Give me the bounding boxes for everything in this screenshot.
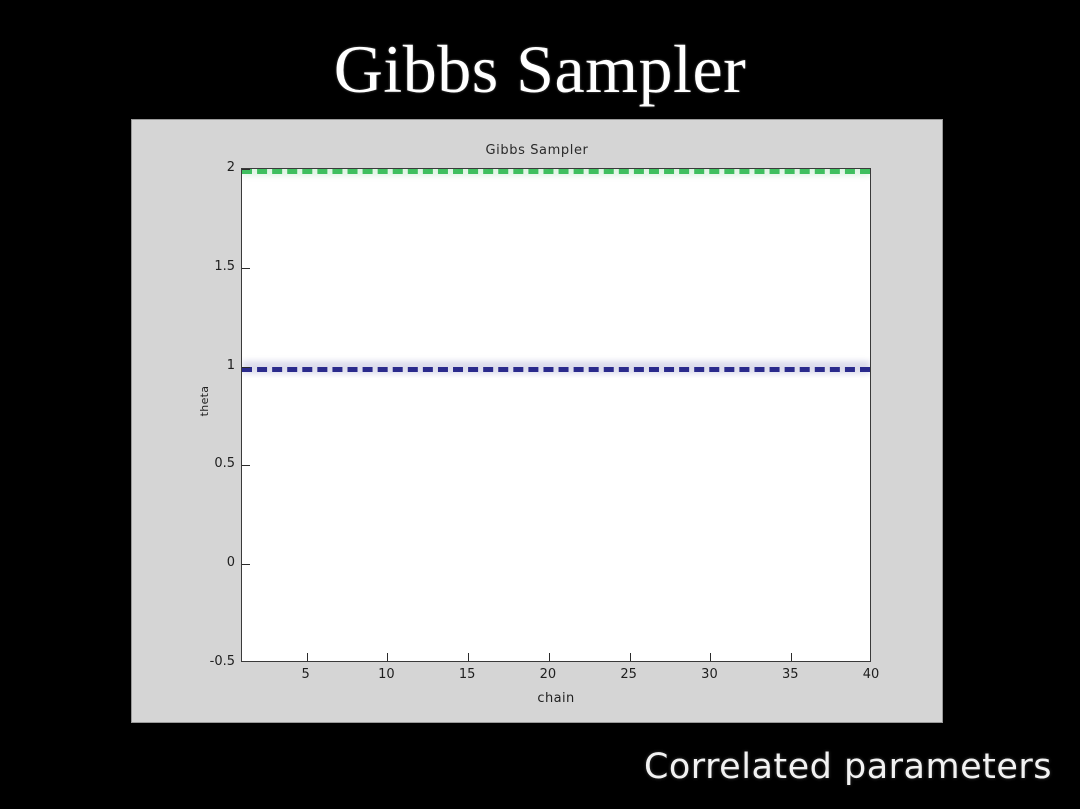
x-tick-label: 15 [459,667,476,682]
y-tick-mark [242,169,250,170]
x-axis-label: chain [241,691,871,707]
series-line-theta2 [242,169,870,174]
y-tick-label: 0 [227,556,235,570]
y-tick-mark [242,268,250,269]
x-tick-label: 30 [701,667,718,682]
x-tick-label: 35 [782,667,799,682]
figure-panel: Gibbs Sampler -0.500.511.52 theta 510152… [131,119,943,723]
y-tick-mark [242,367,250,368]
x-axis-tick-labels: 510152025303540 [241,667,871,685]
x-tick-mark [791,653,792,661]
y-tick-label: 2 [227,161,235,175]
slide-caption: Correlated parameters [644,745,1052,789]
y-tick-mark [242,564,250,565]
x-tick-label: 10 [378,667,395,682]
plot-area [241,168,871,662]
plot-inner [242,169,870,661]
x-tick-mark [630,653,631,661]
x-tick-label: 5 [301,667,309,682]
x-tick-mark [549,653,550,661]
series-line-theta1 [242,367,870,372]
x-tick-label: 40 [863,667,880,682]
slide: Gibbs Sampler Gibbs Sampler -0.500.511.5… [0,0,1080,809]
page-title: Gibbs Sampler [0,30,1080,108]
x-tick-label: 25 [620,667,637,682]
y-tick-label: 1 [227,359,235,373]
x-tick-mark [307,653,308,661]
y-axis-label: theta [199,371,211,431]
x-tick-mark [710,653,711,661]
x-tick-mark [468,653,469,661]
y-tick-mark [242,465,250,466]
y-tick-label: 1.5 [214,260,235,274]
y-tick-label: 0.5 [214,457,235,471]
x-tick-mark [387,653,388,661]
x-tick-label: 20 [540,667,557,682]
chart-title: Gibbs Sampler [131,143,943,159]
y-tick-label: -0.5 [210,655,235,669]
